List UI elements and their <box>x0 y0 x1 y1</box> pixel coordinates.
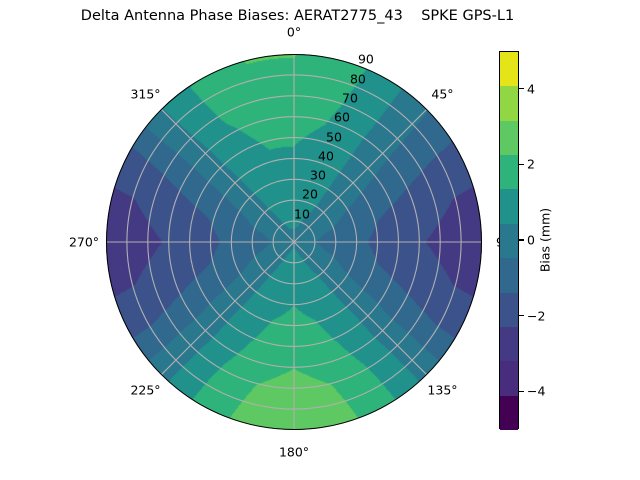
radial-tick-label-40: 40 <box>318 148 334 163</box>
radial-tick-label-20: 20 <box>302 187 318 202</box>
colorbar-axis-label: Bias (mm) <box>538 208 553 272</box>
colorbar-band <box>500 52 518 86</box>
colorbar-band <box>500 224 518 258</box>
radial-tick-label-80: 80 <box>350 71 366 86</box>
radial-tick-label-90: 90 <box>358 52 374 67</box>
colorbar-tick-label: 4 <box>527 81 535 96</box>
angular-gridline <box>161 109 294 242</box>
theta-tick-label-225: 225° <box>130 383 160 398</box>
colorbar-band <box>500 361 518 395</box>
colorbar-band <box>500 293 518 327</box>
colorbar-tick-mark <box>519 239 524 240</box>
colorbar-band <box>500 327 518 361</box>
colorbar-band <box>500 86 518 120</box>
angular-gridline <box>294 242 427 375</box>
colorbar-tick-mark <box>519 315 524 316</box>
radial-tick-label-70: 70 <box>342 90 358 105</box>
colorbar-tick-mark <box>519 391 524 392</box>
colorbar-tick-mark <box>519 164 524 165</box>
theta-tick-label-0: 0° <box>287 25 301 40</box>
radial-tick-label-50: 50 <box>326 129 342 144</box>
colorbar-band <box>500 121 518 155</box>
colorbar-tick-mark <box>519 88 524 89</box>
colorbar-tick-label: −2 <box>527 308 545 323</box>
colorbar-tick-label: 2 <box>527 157 535 172</box>
colorbar-tick-label: 0 <box>527 233 535 248</box>
colorbar-band <box>500 155 518 189</box>
colorbar-gradient <box>499 51 519 429</box>
theta-tick-label-135: 135° <box>427 383 457 398</box>
polar-axes <box>106 54 482 430</box>
colorbar-band <box>500 258 518 292</box>
polar-gridlines <box>106 54 482 430</box>
colorbar-band <box>500 396 518 430</box>
colorbar <box>499 51 519 429</box>
theta-tick-label-315: 315° <box>130 86 160 101</box>
radial-tick-label-30: 30 <box>310 168 326 183</box>
radial-tick-label-60: 60 <box>334 110 350 125</box>
colorbar-tick-label: −4 <box>527 384 545 399</box>
polar-data-region <box>106 54 482 430</box>
angular-gridline <box>161 242 294 375</box>
colorbar-band <box>500 189 518 223</box>
chart-title: Delta Antenna Phase Biases: AERAT2775_43… <box>0 8 595 24</box>
theta-tick-label-45: 45° <box>431 86 453 101</box>
theta-tick-label-270: 270° <box>69 235 99 250</box>
radial-tick-label-10: 10 <box>294 206 310 221</box>
theta-tick-label-180: 180° <box>279 445 309 460</box>
figure: Delta Antenna Phase Biases: AERAT2775_43… <box>0 0 640 480</box>
